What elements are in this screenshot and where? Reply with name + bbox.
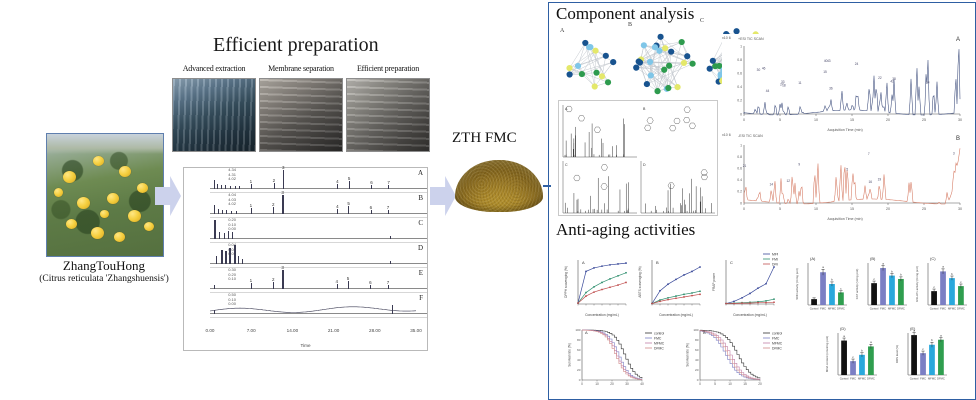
svg-text:34: 34 bbox=[926, 80, 930, 84]
svg-text:0: 0 bbox=[699, 382, 701, 386]
prep-label-efficient-preparation: Efficient preparation bbox=[346, 64, 430, 77]
chromatogram-peak bbox=[282, 195, 283, 214]
chromatogram-row-e: 0.300.200.10E1234567 bbox=[210, 268, 427, 293]
svg-text:B: B bbox=[656, 260, 659, 265]
tic-scan-negative-panel: B -ESI TIC SCAN x10 6 Acquisition Time (… bbox=[722, 133, 968, 221]
svg-text:FMC: FMC bbox=[940, 307, 946, 311]
svg-text:80: 80 bbox=[577, 338, 581, 342]
bar-chart-a: ControlaFMCbMFMCcDFMC(A)SOD activity (U/… bbox=[794, 254, 850, 316]
chromatogram-peak-number: 1 bbox=[250, 278, 253, 283]
survival-curve-panel-a: 010203040020406080100ASurvival rate (%)c… bbox=[566, 322, 676, 394]
svg-text:14: 14 bbox=[770, 183, 774, 187]
svg-text:100: 100 bbox=[693, 328, 698, 332]
svg-text:40: 40 bbox=[695, 358, 699, 362]
fruit bbox=[128, 210, 141, 222]
svg-text:MFMC: MFMC bbox=[772, 252, 778, 256]
chromatogram-xtick: 35.00 bbox=[410, 328, 422, 333]
svg-text:21: 21 bbox=[743, 164, 747, 168]
chromatogram-peak bbox=[273, 207, 274, 214]
bar-chart-svg: ControlaFMCbMFMCcDFMC(A)SOD activity (U/… bbox=[794, 254, 850, 316]
product-powder-photo bbox=[455, 160, 543, 212]
chromatogram-peak bbox=[218, 209, 219, 214]
svg-text:9: 9 bbox=[798, 162, 800, 166]
chromatogram-peak bbox=[348, 281, 349, 289]
prep-label-advanced-extraction: Advanced extraction bbox=[172, 64, 256, 77]
dose-response-panel-a: AConcentration (mg/mL)DPPH scavenging (%… bbox=[562, 252, 630, 318]
product-label: ZTH FMC bbox=[452, 130, 517, 147]
chromatogram-panel-label: F bbox=[419, 294, 423, 302]
chromatogram-peak bbox=[348, 206, 349, 214]
svg-text:36: 36 bbox=[829, 87, 833, 91]
chromatogram-peak bbox=[371, 210, 372, 214]
chromatogram-peak-number: 2 bbox=[272, 277, 275, 282]
svg-text:60: 60 bbox=[695, 348, 699, 352]
chromatogram-panel-label: E bbox=[419, 269, 423, 277]
svg-text:16: 16 bbox=[868, 180, 872, 184]
chromatogram-peak bbox=[251, 184, 252, 189]
chromatogram-peak bbox=[349, 181, 350, 189]
dose-response-svg: AConcentration (mg/mL)DPPH scavenging (%… bbox=[562, 252, 630, 318]
svg-text:C: C bbox=[565, 163, 568, 167]
svg-text:FMC: FMC bbox=[772, 257, 778, 261]
svg-text:Control: Control bbox=[840, 377, 849, 381]
specimen-latin-name: (Citrus reticulata 'Zhangshuensis') bbox=[14, 274, 194, 284]
chromatogram-row-d: 0.040.020.00D bbox=[210, 243, 427, 268]
chromatogram-xtick: 14.00 bbox=[287, 328, 299, 333]
fruit bbox=[63, 171, 76, 183]
svg-text:a: a bbox=[870, 340, 872, 344]
specimen-photo bbox=[46, 133, 164, 257]
svg-text:5: 5 bbox=[779, 118, 781, 122]
tic-trace: 05101520253000.20.40.60.8111151822242730… bbox=[722, 34, 968, 132]
svg-text:Control: Control bbox=[910, 377, 919, 381]
svg-text:25: 25 bbox=[922, 118, 926, 122]
svg-text:20: 20 bbox=[886, 207, 890, 211]
svg-text:0.8: 0.8 bbox=[737, 58, 742, 62]
svg-text:Control: Control bbox=[930, 307, 939, 311]
chromatogram-peak-number: 6 bbox=[370, 205, 373, 210]
svg-text:B: B bbox=[643, 107, 646, 111]
fruit bbox=[91, 227, 104, 239]
svg-text:Survival rate (%): Survival rate (%) bbox=[568, 343, 572, 367]
svg-text:(B): (B) bbox=[870, 256, 876, 261]
svg-text:40: 40 bbox=[577, 358, 581, 362]
svg-text:1: 1 bbox=[740, 44, 742, 48]
photo-foliage bbox=[47, 134, 163, 256]
bar-chart-svg: aControlcFMCbMFMCaDFMC(D)MDA content (nm… bbox=[824, 324, 880, 386]
svg-text:GSH-Px activity (U/mg prot): GSH-Px activity (U/mg prot) bbox=[915, 266, 919, 302]
svg-text:Concentration (mg/mL): Concentration (mg/mL) bbox=[585, 313, 619, 317]
svg-text:A: A bbox=[585, 330, 588, 335]
chromatogram-peak bbox=[337, 184, 338, 189]
svg-text:10: 10 bbox=[814, 118, 818, 122]
dose-response-svg: BConcentration (mg/mL)ABTS scavenging (%… bbox=[636, 252, 704, 318]
svg-text:a: a bbox=[942, 265, 944, 269]
svg-text:15: 15 bbox=[850, 118, 854, 122]
svg-text:30: 30 bbox=[757, 68, 761, 72]
svg-text:B: B bbox=[703, 330, 706, 335]
network-graph-a: A bbox=[560, 36, 622, 94]
svg-text:MFMC: MFMC bbox=[888, 307, 896, 311]
svg-text:0: 0 bbox=[743, 207, 745, 211]
svg-text:0.4: 0.4 bbox=[737, 178, 742, 182]
network-graph-b: B bbox=[628, 30, 698, 96]
svg-text:44: 44 bbox=[766, 89, 770, 93]
chromatogram-xlabel: Time bbox=[184, 343, 427, 348]
chromatogram-panel-label: D bbox=[418, 244, 423, 252]
hplc-chromatogram-panel: 4.344.314.02A12345674.044.034.02B1234567… bbox=[183, 167, 428, 351]
svg-text:46: 46 bbox=[762, 67, 766, 71]
svg-text:24: 24 bbox=[855, 62, 859, 66]
svg-text:5: 5 bbox=[779, 207, 781, 211]
chromatogram-baseline bbox=[210, 238, 427, 239]
preparation-photo-labels: Advanced extraction Membrane separation … bbox=[172, 64, 430, 77]
arrow-specimen-to-preparation bbox=[155, 176, 181, 216]
svg-text:1: 1 bbox=[740, 143, 742, 147]
chromatogram-peak bbox=[229, 248, 230, 264]
tic-scan-positive-panel: A +ESI TIC SCAN x10 6 Acquisition Time (… bbox=[722, 34, 968, 132]
fruit bbox=[107, 193, 119, 204]
chromatogram-peak bbox=[390, 236, 391, 239]
network-svg bbox=[628, 30, 698, 96]
fruit bbox=[54, 188, 63, 197]
svg-text:DFMC: DFMC bbox=[772, 346, 782, 350]
svg-text:CAT activity (U/mg prot): CAT activity (U/mg prot) bbox=[855, 269, 859, 300]
survival-curve-panel-b: 05101520020406080100BSurvival rate (%)co… bbox=[684, 322, 794, 394]
svg-text:40: 40 bbox=[640, 382, 644, 386]
svg-text:33: 33 bbox=[781, 80, 785, 84]
chromatogram-row-b: 4.044.034.02B1234567 bbox=[210, 193, 427, 218]
chromatogram-peak-number: 7 bbox=[387, 180, 390, 185]
svg-text:15: 15 bbox=[850, 207, 854, 211]
chromatogram-peak bbox=[388, 210, 389, 214]
dose-response-legend: MFMCFMCDFMC bbox=[762, 252, 778, 268]
survival-svg: 010203040020406080100ASurvival rate (%)c… bbox=[566, 322, 676, 394]
chromatogram-peak bbox=[390, 261, 391, 264]
svg-text:SOD activity (U/mg prot): SOD activity (U/mg prot) bbox=[795, 268, 799, 299]
svg-text:20: 20 bbox=[886, 118, 890, 122]
svg-text:15: 15 bbox=[743, 382, 747, 386]
svg-text:0.2: 0.2 bbox=[737, 190, 742, 194]
svg-text:19: 19 bbox=[878, 178, 882, 182]
svg-text:0: 0 bbox=[740, 112, 742, 116]
svg-text:a: a bbox=[843, 334, 845, 338]
chromatogram-peak bbox=[216, 256, 217, 264]
svg-text:20: 20 bbox=[577, 368, 581, 372]
chromatogram-peak bbox=[251, 283, 252, 289]
chromatogram-peak-number: 3 bbox=[281, 190, 284, 195]
chromatogram-peak-number: 1 bbox=[250, 179, 253, 184]
svg-text:0.6: 0.6 bbox=[737, 167, 742, 171]
chromatogram-peak bbox=[388, 285, 389, 289]
photo-membrane-separation bbox=[259, 78, 343, 152]
chromatogram-peak bbox=[242, 259, 243, 264]
chromatogram-peak bbox=[214, 205, 215, 214]
chromatogram-peak bbox=[238, 256, 239, 264]
svg-text:11: 11 bbox=[798, 81, 802, 85]
chromatogram-peak bbox=[236, 211, 237, 214]
svg-text:20: 20 bbox=[695, 368, 699, 372]
svg-text:D: D bbox=[643, 163, 646, 167]
preparation-photos bbox=[172, 78, 430, 152]
svg-text:15: 15 bbox=[823, 70, 827, 74]
chromatogram-baseline bbox=[210, 188, 427, 189]
svg-text:42: 42 bbox=[890, 80, 894, 84]
svg-text:c: c bbox=[840, 287, 842, 291]
chromatogram-peak bbox=[225, 251, 226, 264]
msms-structures-panel: ABCD bbox=[558, 100, 718, 216]
chromatogram-xaxis: 0.007.0014.0021.0028.0035.00 bbox=[210, 328, 423, 338]
chromatogram-peak-number: 5 bbox=[347, 276, 350, 281]
network-label-c: C bbox=[700, 18, 704, 24]
chromatogram-peak-number: 3 bbox=[282, 165, 285, 170]
chromatogram-peak-number: 6 bbox=[370, 180, 373, 185]
specimen-name: ZhangTouHong bbox=[26, 258, 182, 274]
svg-text:MFMC: MFMC bbox=[654, 341, 665, 345]
chromatogram-peak bbox=[225, 185, 226, 189]
chromatogram-peak bbox=[337, 284, 338, 289]
chromatogram-peak-number: 6 bbox=[369, 280, 372, 285]
svg-text:(A): (A) bbox=[810, 256, 816, 261]
svg-text:control: control bbox=[772, 331, 782, 335]
svg-text:(D): (D) bbox=[840, 326, 846, 331]
chromatogram-baseline bbox=[210, 213, 427, 214]
chromatogram-peak-number: 2 bbox=[272, 202, 275, 207]
chromatogram-peak bbox=[282, 270, 283, 289]
bar-chart-c: cControlaFMCbMFMCcDFMC(C)GSH-Px activity… bbox=[914, 254, 970, 316]
chromatogram-peak-number: 4 bbox=[336, 204, 339, 209]
chromatogram-xtick: 28.00 bbox=[369, 328, 381, 333]
svg-text:FMC: FMC bbox=[880, 307, 886, 311]
section-title-component-analysis: Component analysis bbox=[556, 4, 694, 24]
svg-text:b: b bbox=[831, 278, 833, 282]
chromatogram-baseline-trace bbox=[210, 296, 416, 314]
bar-chart-d: aControlcFMCbMFMCaDFMC(D)MDA content (nm… bbox=[824, 324, 880, 386]
svg-text:30: 30 bbox=[625, 382, 629, 386]
svg-text:ROS level (%): ROS level (%) bbox=[895, 345, 899, 363]
svg-text:c: c bbox=[922, 347, 924, 351]
chromatogram-peak-number: 4 bbox=[336, 279, 339, 284]
svg-text:3: 3 bbox=[953, 152, 955, 156]
svg-text:Control: Control bbox=[810, 307, 819, 311]
svg-text:MFMC: MFMC bbox=[772, 341, 783, 345]
svg-text:DPPH scavenging (%): DPPH scavenging (%) bbox=[564, 266, 568, 298]
chromatogram-peak-number: 1 bbox=[250, 203, 253, 208]
section-title-efficient-preparation: Efficient preparation bbox=[213, 34, 379, 57]
svg-text:60: 60 bbox=[577, 348, 581, 352]
chromatogram-xtick: 21.00 bbox=[328, 328, 340, 333]
svg-text:DFMC: DFMC bbox=[837, 307, 845, 311]
fruit bbox=[100, 210, 109, 218]
chromatogram-peak-number: 4 bbox=[336, 179, 339, 184]
svg-text:MDA content (nmol/mg prot): MDA content (nmol/mg prot) bbox=[825, 336, 829, 372]
chromatogram-peak bbox=[214, 220, 215, 239]
prep-label-membrane-separation: Membrane separation bbox=[259, 64, 343, 77]
svg-text:0.6: 0.6 bbox=[737, 72, 742, 76]
chromatogram-peak-number: 7 bbox=[387, 280, 390, 285]
chromatogram-xtick: 7.00 bbox=[247, 328, 256, 333]
chromatogram-peak bbox=[224, 233, 225, 239]
svg-text:MFMC: MFMC bbox=[928, 377, 936, 381]
svg-text:20: 20 bbox=[758, 382, 762, 386]
svg-text:30: 30 bbox=[958, 207, 962, 211]
svg-text:DFMC: DFMC bbox=[772, 262, 778, 266]
svg-text:0: 0 bbox=[581, 382, 583, 386]
svg-text:b: b bbox=[891, 269, 893, 273]
chromatogram-peak bbox=[214, 285, 215, 289]
svg-text:FRAP power: FRAP power bbox=[712, 272, 716, 291]
svg-text:c: c bbox=[933, 285, 935, 289]
chromatogram-panel-label: C bbox=[418, 219, 423, 227]
fruit bbox=[114, 232, 125, 242]
chromatogram-panel-label: B bbox=[418, 194, 423, 202]
bar-chart-svg: cControlaFMCbMFMCbDFMC(B)CAT activity (U… bbox=[854, 254, 910, 316]
svg-text:0.8: 0.8 bbox=[737, 155, 742, 159]
dose-response-panel-c: CConcentration (mg/mL)FRAP powerMFMCFMCD… bbox=[710, 252, 778, 318]
svg-text:c: c bbox=[960, 280, 962, 284]
svg-text:5: 5 bbox=[846, 168, 848, 172]
svg-text:Concentration (mg/mL): Concentration (mg/mL) bbox=[733, 313, 767, 317]
svg-text:c: c bbox=[852, 355, 854, 359]
chromatogram-peak bbox=[228, 231, 229, 239]
chromatogram-peak bbox=[231, 211, 232, 214]
chromatogram-peak bbox=[221, 250, 222, 264]
chromatogram-panel-label: A bbox=[418, 169, 423, 177]
chromatogram-peak bbox=[226, 210, 227, 214]
photo-advanced-extraction bbox=[172, 78, 256, 152]
chromatogram-peak bbox=[283, 170, 284, 189]
svg-text:0: 0 bbox=[579, 378, 581, 382]
svg-text:25: 25 bbox=[922, 207, 926, 211]
bar-chart-svg: cControlaFMCbMFMCcDFMC(C)GSH-Px activity… bbox=[914, 254, 970, 316]
svg-text:FMC: FMC bbox=[850, 377, 856, 381]
svg-text:FMC: FMC bbox=[820, 307, 826, 311]
chromatogram-peak bbox=[217, 184, 218, 189]
svg-text:80: 80 bbox=[695, 338, 699, 342]
msms-svg: ABCD bbox=[559, 101, 718, 216]
chromatogram-peak-number: 2 bbox=[273, 178, 276, 183]
svg-text:20: 20 bbox=[610, 382, 614, 386]
svg-text:MFMC: MFMC bbox=[828, 307, 836, 311]
chromatogram-peak bbox=[230, 186, 231, 189]
svg-text:12: 12 bbox=[787, 179, 791, 183]
svg-text:A: A bbox=[565, 107, 568, 111]
svg-text:b: b bbox=[861, 349, 863, 353]
svg-text:100: 100 bbox=[575, 328, 580, 332]
svg-text:5: 5 bbox=[714, 382, 716, 386]
svg-text:DFMC: DFMC bbox=[867, 377, 875, 381]
chromatogram-peak bbox=[239, 186, 240, 189]
bar-chart-b: cControlaFMCbMFMCbDFMC(B)CAT activity (U… bbox=[854, 254, 910, 316]
svg-text:FMC: FMC bbox=[920, 377, 926, 381]
chromatogram-peak bbox=[235, 186, 236, 189]
bar-chart-svg: aControlcFMCbMFMCaDFMC(E)ROS level (%) bbox=[894, 324, 950, 386]
chromatogram-peak bbox=[234, 245, 235, 264]
svg-text:0.4: 0.4 bbox=[737, 85, 742, 89]
chromatogram-xtick: 0.00 bbox=[206, 328, 215, 333]
svg-text:ABTS scavenging (%): ABTS scavenging (%) bbox=[638, 266, 642, 297]
svg-text:0: 0 bbox=[697, 378, 699, 382]
survival-svg: 05101520020406080100BSurvival rate (%)co… bbox=[684, 322, 794, 394]
chromatogram-peak bbox=[219, 232, 220, 239]
svg-text:10: 10 bbox=[728, 382, 732, 386]
chromatogram-peak bbox=[337, 209, 338, 214]
svg-text:FMC: FMC bbox=[654, 336, 662, 340]
svg-text:DFMC: DFMC bbox=[897, 307, 905, 311]
svg-text:c: c bbox=[873, 277, 875, 281]
svg-text:43: 43 bbox=[827, 59, 831, 63]
chromatogram-peak bbox=[221, 185, 222, 189]
chromatogram-peak bbox=[370, 285, 371, 289]
svg-text:MFMC: MFMC bbox=[948, 307, 956, 311]
svg-text:DFMC: DFMC bbox=[654, 346, 664, 350]
chromatogram-peak bbox=[388, 185, 389, 189]
chromatogram-peak-number: 3 bbox=[281, 265, 284, 270]
svg-text:(E): (E) bbox=[910, 326, 916, 331]
svg-text:b: b bbox=[931, 338, 933, 342]
svg-text:Survival rate (%): Survival rate (%) bbox=[686, 343, 690, 367]
chromatogram-peak-number: 5 bbox=[348, 176, 351, 181]
svg-text:DFMC: DFMC bbox=[937, 377, 945, 381]
tic-trace: 05101520253000.20.40.60.8135791214161921 bbox=[722, 133, 968, 221]
svg-text:a: a bbox=[940, 333, 942, 337]
chromatogram-peak bbox=[371, 185, 372, 189]
photo-efficient-preparation bbox=[346, 78, 430, 152]
svg-text:a: a bbox=[882, 261, 884, 265]
chromatogram-peak bbox=[222, 210, 223, 214]
chromatogram-peak bbox=[273, 282, 274, 289]
chromatogram-peak bbox=[251, 208, 252, 214]
svg-text:10: 10 bbox=[814, 207, 818, 211]
fruit bbox=[119, 166, 131, 177]
svg-text:22: 22 bbox=[878, 76, 882, 80]
svg-text:FMC: FMC bbox=[772, 336, 780, 340]
svg-text:b: b bbox=[900, 273, 902, 277]
svg-text:(C): (C) bbox=[930, 256, 936, 261]
svg-text:A: A bbox=[582, 260, 585, 265]
svg-text:control: control bbox=[654, 331, 664, 335]
dose-response-panel-b: BConcentration (mg/mL)ABTS scavenging (%… bbox=[636, 252, 704, 318]
chromatogram-peak bbox=[232, 232, 233, 239]
arrow-preparation-to-product bbox=[430, 176, 456, 216]
svg-text:7: 7 bbox=[868, 152, 870, 156]
chromatogram-peak bbox=[274, 183, 275, 189]
chromatogram-baseline bbox=[210, 288, 427, 289]
chromatogram-peak-number: 7 bbox=[387, 205, 390, 210]
svg-text:b: b bbox=[951, 272, 953, 276]
svg-text:0.2: 0.2 bbox=[737, 99, 742, 103]
svg-text:30: 30 bbox=[958, 118, 962, 122]
bar-chart-e: aControlcFMCbMFMCaDFMC(E)ROS level (%) bbox=[894, 324, 950, 386]
section-title-anti-aging: Anti-aging activities bbox=[556, 220, 695, 240]
chromatogram-peak-number: 5 bbox=[347, 201, 350, 206]
svg-text:a: a bbox=[822, 265, 824, 269]
svg-text:0: 0 bbox=[743, 118, 745, 122]
chromatogram-row-a: 4.344.314.02A1234567 bbox=[210, 168, 427, 193]
network-label-a: A bbox=[560, 28, 564, 34]
chromatogram-row-c: 0.200.100.00C bbox=[210, 218, 427, 243]
fruit bbox=[66, 219, 77, 229]
chromatogram-peak bbox=[214, 180, 215, 189]
svg-text:10: 10 bbox=[595, 382, 599, 386]
svg-text:Control: Control bbox=[870, 307, 879, 311]
svg-text:Concentration (mg/mL): Concentration (mg/mL) bbox=[659, 313, 693, 317]
chromatogram-row-f: 0.500.100.00F bbox=[210, 293, 427, 318]
svg-text:0: 0 bbox=[740, 201, 742, 205]
svg-text:MFMC: MFMC bbox=[858, 377, 866, 381]
svg-text:DFMC: DFMC bbox=[957, 307, 965, 311]
network-label-b: B bbox=[628, 22, 632, 28]
